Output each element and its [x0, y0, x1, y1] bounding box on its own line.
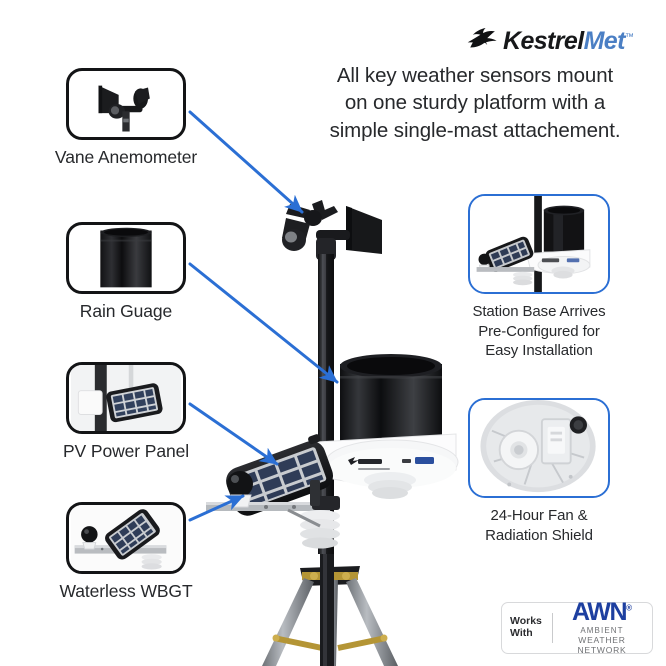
- vane-anemometer-thumbnail: [66, 68, 186, 140]
- awn-sub-line-2: WEATHER NETWORK: [560, 635, 644, 655]
- kestrelmet-weather-station-illustration: [170, 180, 490, 666]
- awn-wordmark-text: AWN: [572, 598, 626, 626]
- awn-registered-mark: ®: [626, 603, 632, 612]
- callout-vane-anemometer: Vane Anemometer: [38, 68, 214, 167]
- awn-sub-line-1: AMBIENT: [560, 626, 644, 636]
- headline-line-2: on one sturdy platform with a: [300, 89, 650, 116]
- hero-radiation-shield: [300, 510, 340, 549]
- awn-wordmark: AWN®: [572, 601, 632, 625]
- rain-gauge-thumbnail: [66, 222, 186, 294]
- headline-line-1: All key weather sensors mount: [300, 62, 650, 89]
- awn-badge-divider: [552, 613, 553, 643]
- awn-works-with-badge: Works With AWN® AMBIENT WEATHER NETWORK: [501, 602, 653, 654]
- hero-vane-anemometer: [282, 200, 382, 260]
- hero-tripod: [262, 554, 398, 666]
- pv-power-panel-thumbnail: [66, 362, 186, 434]
- kestrelmet-logo: KestrelMet™: [466, 24, 626, 58]
- hero-rain-gauge: [340, 354, 442, 448]
- waterless-wbgt-thumbnail: [66, 502, 186, 574]
- infographic-page: KestrelMet™ All key weather sensors moun…: [0, 0, 666, 666]
- callout-vane-anemometer-label: Vane Anemometer: [38, 147, 214, 167]
- logo-wordmark: KestrelMet™: [503, 29, 633, 54]
- logo-kestrel-text: Kestrel: [503, 27, 584, 55]
- headline: All key weather sensors mount on one stu…: [300, 62, 650, 144]
- hero-wbgt-globe: [227, 471, 253, 507]
- hero-station-base: [316, 434, 458, 499]
- awn-logo: AWN® AMBIENT WEATHER NETWORK: [560, 601, 644, 656]
- awn-works-line-2: With: [510, 628, 550, 640]
- awn-works-with-label: Works With: [510, 616, 550, 640]
- logo-met-text: Met: [584, 27, 625, 55]
- logo-trademark: ™: [625, 31, 633, 41]
- headline-line-3: simple single-mast attachement.: [300, 117, 650, 144]
- kestrel-bird-icon: [466, 26, 500, 52]
